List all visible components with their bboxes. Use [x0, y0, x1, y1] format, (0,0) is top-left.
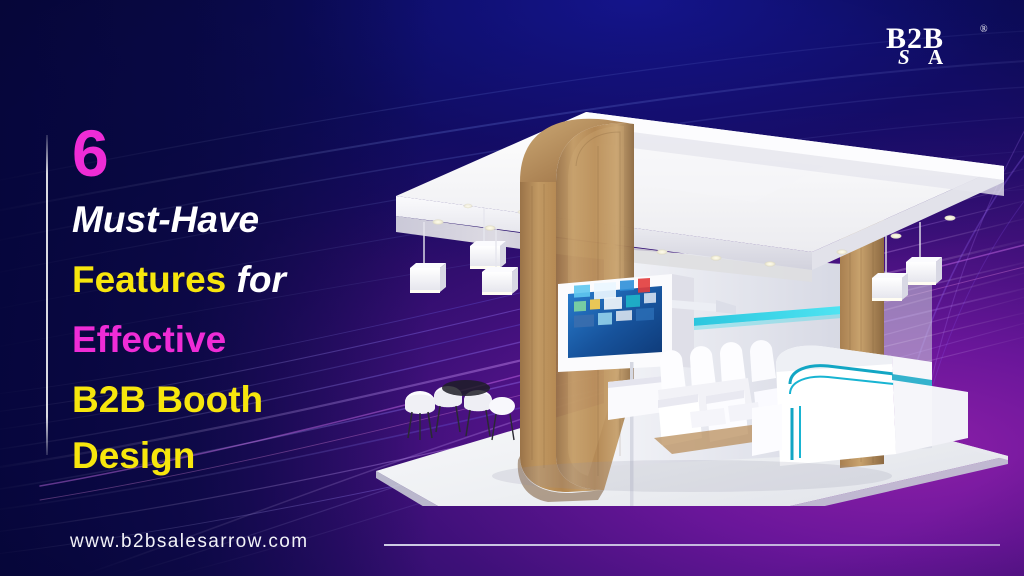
b2b-sales-arrow-logo[interactable]: B2B S A ® — [884, 18, 1002, 70]
headline-line-1: Must-Have — [72, 193, 472, 247]
headline-accent-rule — [46, 135, 48, 455]
headline-word-for: for — [237, 259, 286, 300]
footer-divider-line — [384, 544, 1000, 546]
svg-text:®: ® — [980, 24, 988, 35]
headline-line-4: B2B Booth — [72, 373, 472, 427]
website-url[interactable]: www.b2bsalesarrow.com — [70, 531, 308, 553]
headline-word-effective: Effective — [72, 319, 226, 360]
promotional-banner: 6 Must-Have Features for Effective B2B B… — [0, 0, 1024, 576]
headline-line-3: Effective — [72, 313, 472, 367]
svg-text:A: A — [928, 45, 944, 69]
headline-word-must-have: Must-Have — [72, 199, 259, 240]
headline-line-2: Features for — [72, 253, 472, 307]
pendant-lamp — [906, 222, 942, 285]
headline-word-features: Features — [72, 259, 226, 300]
headline-word-design: Design — [72, 435, 195, 476]
headline-word-b2b-booth: B2B Booth — [72, 379, 263, 420]
headline-line-5: Design — [72, 429, 472, 483]
headline-block: 6 Must-Have Features for Effective B2B B… — [72, 122, 472, 483]
svg-text:S: S — [898, 45, 910, 69]
headline-number: 6 — [72, 122, 472, 185]
